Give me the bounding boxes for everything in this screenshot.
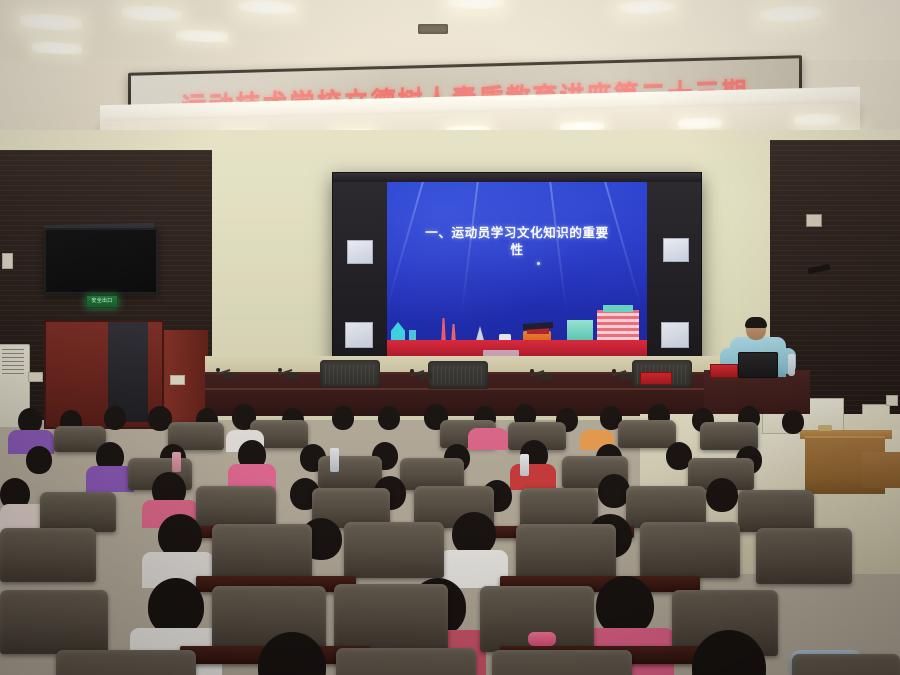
mic-head-icon (278, 368, 282, 372)
mic-head-icon (612, 369, 616, 373)
soffit-light (794, 113, 840, 126)
audience-seat[interactable] (792, 654, 900, 675)
screen-right-panel (647, 182, 701, 356)
audience-seat[interactable] (756, 528, 852, 584)
lecture-hall-photo: 运动技术学校立德树人素质教育讲座第二十三期 安全出口 (0, 0, 900, 675)
audience-seating (0, 400, 900, 675)
audience-head (596, 576, 654, 636)
audience-shirt (468, 428, 508, 450)
mic-base (538, 374, 552, 379)
dais-chair[interactable] (320, 360, 380, 388)
audience-seat[interactable] (318, 456, 382, 488)
screen-sensor-panel (347, 240, 373, 264)
audience-seat[interactable] (334, 584, 448, 650)
slide-heading-line2: 性 (395, 241, 639, 258)
audience-seat[interactable] (516, 524, 616, 580)
slide-heading: 一、运动员学习文化知识的重要 性 (395, 224, 639, 258)
right-wall-camera-icon (806, 214, 822, 227)
audience-seat[interactable] (0, 528, 96, 582)
ac-vent-grille-icon (2, 349, 24, 375)
slide-building (603, 305, 633, 312)
projection-screen-housing: 一、运动员学习文化知识的重要 性 (332, 172, 702, 364)
screen-sensor-panel (663, 238, 689, 262)
presenter (716, 318, 802, 376)
audience-head (104, 406, 126, 430)
presenter-nameplate (710, 364, 738, 378)
water-bottle (520, 454, 529, 476)
wall-tv-monitor (44, 228, 158, 294)
audience-seat[interactable] (40, 492, 116, 532)
pink-case (528, 632, 556, 646)
screen-sensor-panel (661, 322, 689, 348)
audience-seat[interactable] (0, 590, 108, 654)
soffit-light (678, 117, 722, 129)
mic-base (286, 373, 300, 378)
audience-seat[interactable] (212, 524, 312, 580)
dais-chair[interactable] (428, 361, 488, 389)
ceiling-vent-icon (418, 24, 448, 34)
mic-head-icon (410, 369, 414, 373)
exit-sign-text: 安全出口 (91, 299, 112, 304)
screen-left-panel (333, 182, 387, 356)
ceiling-light (32, 41, 82, 56)
mic-head-icon (216, 368, 220, 372)
water-bottle (172, 452, 181, 472)
audience-shirt (86, 466, 134, 492)
ceiling-light (618, 0, 676, 15)
audience-shirt (510, 464, 556, 490)
slide-cityscape-graphic (387, 298, 647, 356)
audience-head (332, 406, 354, 430)
water-bottle (788, 354, 795, 376)
slide-building (597, 310, 639, 344)
exit-sign-icon: 安全出口 (86, 295, 118, 308)
wall-socket-plate[interactable] (2, 253, 13, 269)
table-microphone (612, 370, 634, 378)
audience-seat[interactable] (344, 522, 444, 578)
presenter-laptop (738, 352, 778, 378)
mic-base (620, 374, 634, 379)
mic-base (224, 373, 238, 378)
ceiling-light (20, 12, 82, 31)
projected-slide: 一、运动员学习文化知识的重要 性 (387, 182, 647, 356)
ceiling-light (760, 5, 822, 24)
table-microphone (278, 369, 300, 377)
audience-seat[interactable] (336, 648, 476, 675)
dais-nameplate (640, 372, 672, 385)
table-microphone (216, 369, 238, 377)
table-microphone (530, 370, 552, 378)
audience-seat[interactable] (640, 522, 740, 578)
slide-heading-line1: 一、运动员学习文化知识的重要 (395, 224, 639, 241)
ceiling-light (448, 0, 504, 9)
audience-seat[interactable] (56, 650, 196, 675)
audience-head (26, 446, 52, 474)
screen-sensor-panel (345, 322, 373, 348)
slide-punctuation-mark (537, 262, 540, 265)
water-bottle (330, 448, 339, 472)
ceiling-light (122, 4, 182, 22)
audience-seat[interactable] (196, 486, 276, 528)
wall-switch-plate[interactable] (28, 372, 43, 382)
audience-seat[interactable] (492, 650, 632, 675)
mic-head-icon (530, 369, 534, 373)
mic-base (418, 374, 432, 379)
audience-head (378, 406, 400, 430)
audience-seat[interactable] (618, 420, 676, 448)
wall-switch-plate[interactable] (170, 375, 185, 385)
audience-head (782, 410, 804, 434)
presenter-hair (745, 317, 767, 328)
audience-seat[interactable] (738, 490, 814, 532)
audience-head (706, 478, 738, 512)
table-microphone (410, 370, 432, 378)
